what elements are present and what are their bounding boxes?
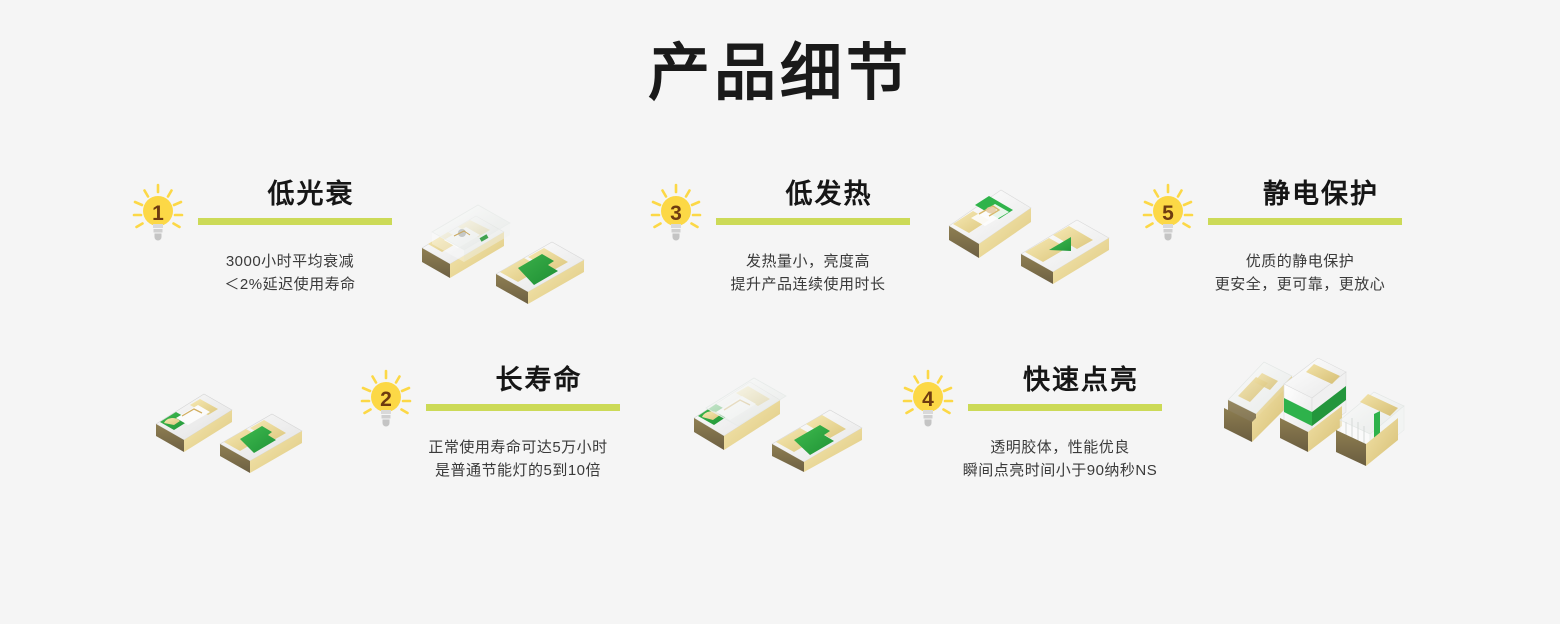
lightbulb-number-4: 4 [922,388,934,411]
page-title: 产品细节 [0,38,1560,110]
product-detail-page: 产品细节 [0,0,1560,624]
feature-desc-line-2a: 正常使用寿命可达5万小时 [378,436,658,459]
feature-underline-3 [716,218,910,225]
lightbulb-icon-3: 3 [648,182,704,244]
lightbulb-number-2: 2 [380,388,392,411]
feature-header-3: 3 低发热 [648,178,948,240]
led-smd-pair-bottom-mid [688,352,888,472]
feature-block-3: 3 低发热 发热量小，亮度高 提升产品连续使用时长 [648,178,948,240]
feature-title-4: 快速点亮 [962,364,1200,397]
feature-desc-line-1a: 3000小时平均衰减 [150,250,430,273]
feature-title-5: 静电保护 [1202,178,1440,211]
feature-block-5: 5 静电保护 优质的静电保护 更安全，更可靠，更放心 [1140,178,1440,240]
feature-title-3: 低发热 [710,178,948,211]
led-smd-pair-top-mid [945,166,1135,286]
feature-underline-4 [968,404,1162,411]
feature-block-4: 4 快速点亮 透明胶体，性能优良 瞬间点亮时间小于90纳秒NS [900,364,1200,426]
led-smd-pair-top-left [418,186,618,306]
feature-desc-line-5b: 更安全，更可靠，更放心 [1160,273,1440,296]
feature-description-5: 优质的静电保护 更安全，更可靠，更放心 [1160,250,1440,296]
feature-desc-line-4a: 透明胶体，性能优良 [920,436,1200,459]
feature-desc-line-5a: 优质的静电保护 [1160,250,1440,273]
lightbulb-number-3: 3 [670,202,682,225]
lightbulb-icon-5: 5 [1140,182,1196,244]
feature-block-1: 1 低光衰 3000小时平均衰减 ＜2%延迟使用寿命 [130,178,430,240]
lightbulb-icon-1: 1 [130,182,186,244]
led-smd-pair-bottom-left [150,368,330,478]
feature-description-2: 正常使用寿命可达5万小时 是普通节能灯的5到10倍 [378,436,658,482]
feature-underline-1 [198,218,392,225]
lightbulb-number-5: 5 [1162,202,1174,225]
feature-header-2: 2 长寿命 [358,364,658,426]
lightbulb-number-1: 1 [152,202,164,225]
feature-header-1: 1 低光衰 [130,178,430,240]
led-smd-trio-bottom-right [1222,358,1412,473]
lightbulb-icon-4: 4 [900,368,956,430]
feature-desc-line-3a: 发热量小，亮度高 [668,250,948,273]
feature-title-2: 长寿命 [420,364,658,397]
feature-header-5: 5 静电保护 [1140,178,1440,240]
feature-header-4: 4 快速点亮 [900,364,1200,426]
feature-description-1: 3000小时平均衰减 ＜2%延迟使用寿命 [150,250,430,296]
feature-desc-line-3b: 提升产品连续使用时长 [668,273,948,296]
feature-underline-5 [1208,218,1402,225]
feature-title-1: 低光衰 [192,178,430,211]
feature-description-3: 发热量小，亮度高 提升产品连续使用时长 [668,250,948,296]
feature-block-2: 2 长寿命 正常使用寿命可达5万小时 是普通节能灯的5到10倍 [358,364,658,426]
feature-underline-2 [426,404,620,411]
lightbulb-icon-2: 2 [358,368,414,430]
feature-desc-line-4b: 瞬间点亮时间小于90纳秒NS [920,459,1200,482]
feature-desc-line-1b: ＜2%延迟使用寿命 [150,273,430,296]
feature-desc-line-2b: 是普通节能灯的5到10倍 [378,459,658,482]
feature-description-4: 透明胶体，性能优良 瞬间点亮时间小于90纳秒NS [920,436,1200,482]
